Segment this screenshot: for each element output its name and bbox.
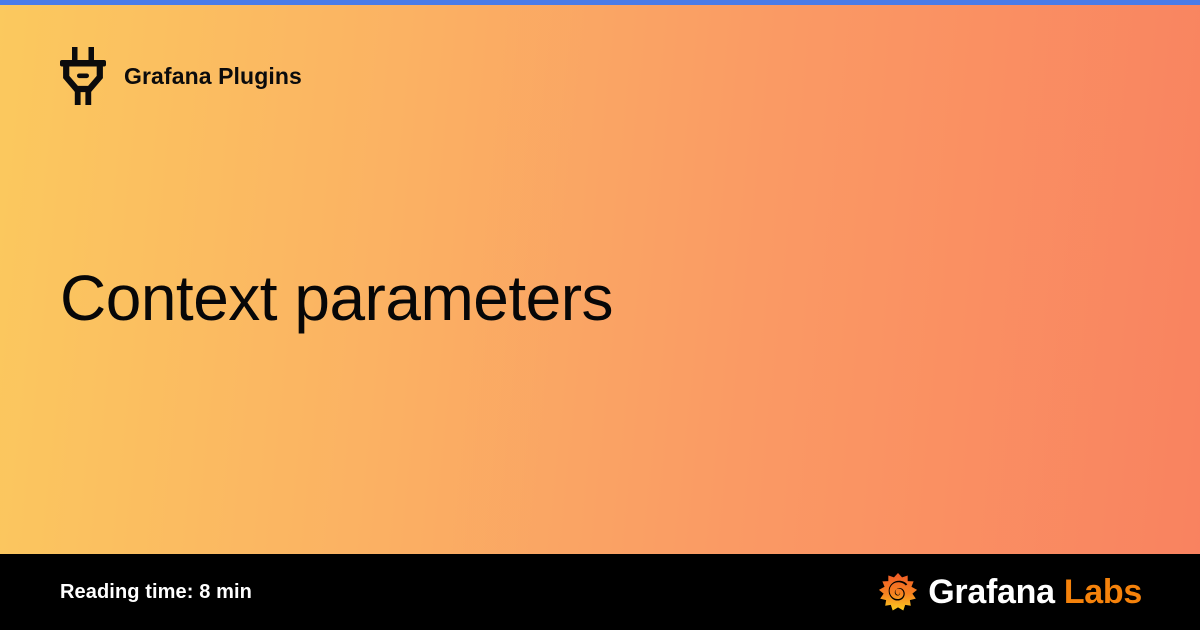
top-accent-rule xyxy=(0,0,1200,5)
grafana-labs-logo: Grafana Labs xyxy=(878,572,1142,612)
wordmark-labs: Labs xyxy=(1064,573,1142,611)
brand-label: Grafana Plugins xyxy=(124,65,302,88)
footer-bar: Reading time: 8 min Grafana Labs xyxy=(0,554,1200,630)
brand-header: Grafana Plugins xyxy=(60,45,302,107)
power-plug-icon xyxy=(60,47,106,105)
open-graph-card: Grafana Plugins Context parameters Readi… xyxy=(0,0,1200,630)
hero-section: Context parameters xyxy=(60,262,1110,336)
wordmark-grafana: Grafana xyxy=(928,573,1054,611)
grafana-labs-wordmark: Grafana Labs xyxy=(928,575,1142,609)
grafana-flame-icon xyxy=(878,572,918,612)
page-title: Context parameters xyxy=(60,262,1110,336)
reading-time-label: Reading time: 8 min xyxy=(60,582,252,602)
